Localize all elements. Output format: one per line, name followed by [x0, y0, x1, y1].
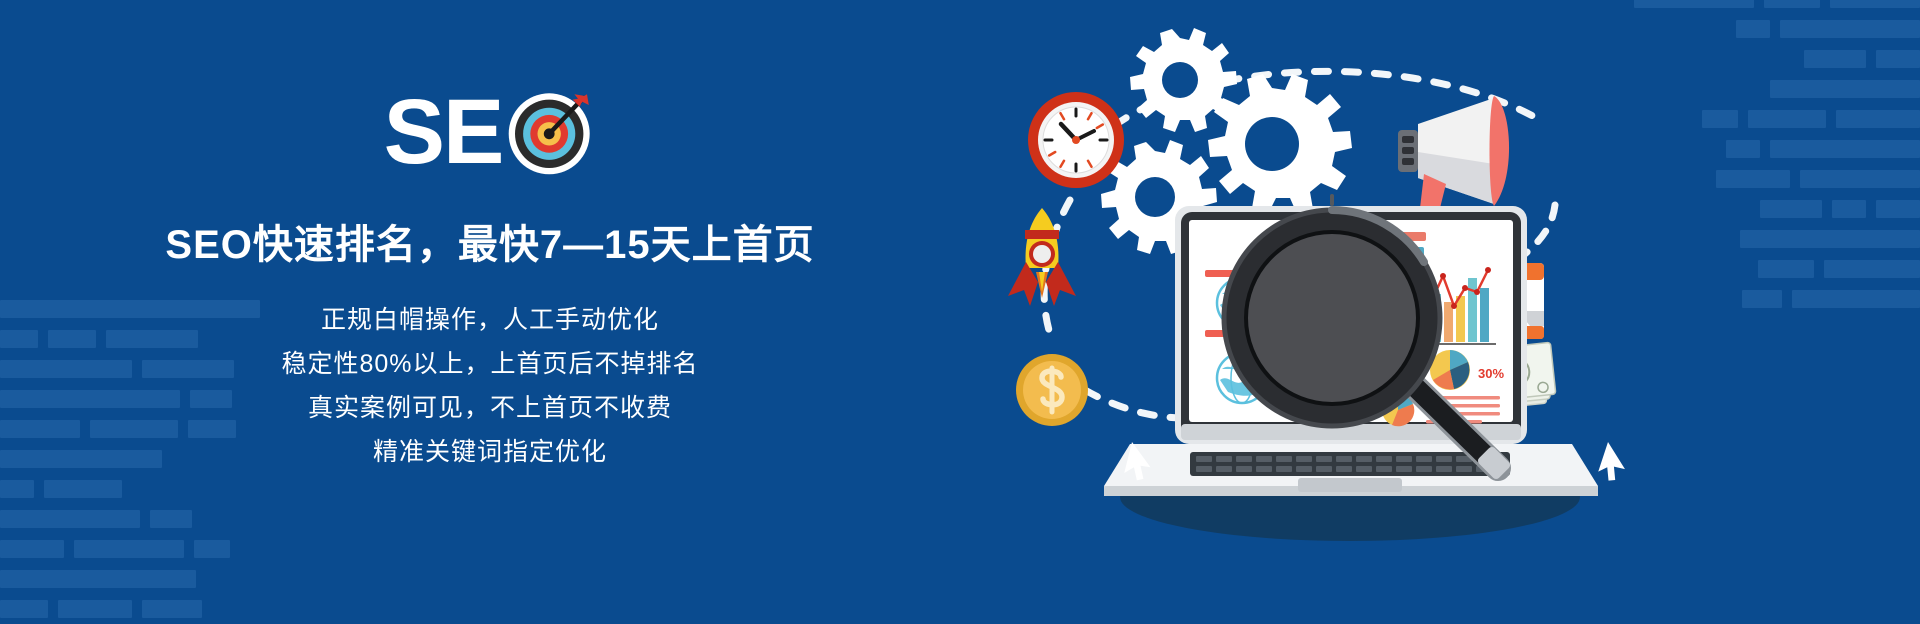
banner-subline: 稳定性80%以上，上首页后不掉排名: [281, 342, 698, 386]
banner-subline: 精准关键词指定优化: [281, 430, 698, 474]
chart-percent-label: 30%: [1478, 366, 1504, 381]
banner-subline-list: 正规白帽操作，人工手动优化 稳定性80%以上，上首页后不掉排名 真实案例可见，不…: [281, 298, 698, 474]
cursor-arrow-icon: [1588, 442, 1627, 485]
pie-chart-percent: [1430, 350, 1470, 390]
alarm-clock-icon: [1028, 92, 1124, 188]
banner-subline: 真实案例可见，不上首页不收费: [281, 386, 698, 430]
seo-banner: SE SEO快速排名，最快7—15天上首页 正规白帽操作，人工手动优化: [0, 0, 1920, 624]
seo-logo-text: SE: [384, 88, 503, 176]
seo-illustration: 17 $: [980, 0, 1920, 624]
seo-logo: SE: [384, 88, 597, 176]
rocket-icon: [1008, 208, 1076, 306]
megaphone-icon: [1398, 96, 1509, 219]
target-bullseye-icon: [506, 87, 596, 177]
banner-text-column: SE SEO快速排名，最快7—15天上首页 正规白帽操作，人工手动优化: [0, 0, 980, 624]
banner-subline: 正规白帽操作，人工手动优化: [281, 298, 698, 342]
banner-headline: SEO快速排名，最快7—15天上首页: [165, 212, 814, 270]
gold-coin-dollar-icon: [1016, 354, 1088, 426]
